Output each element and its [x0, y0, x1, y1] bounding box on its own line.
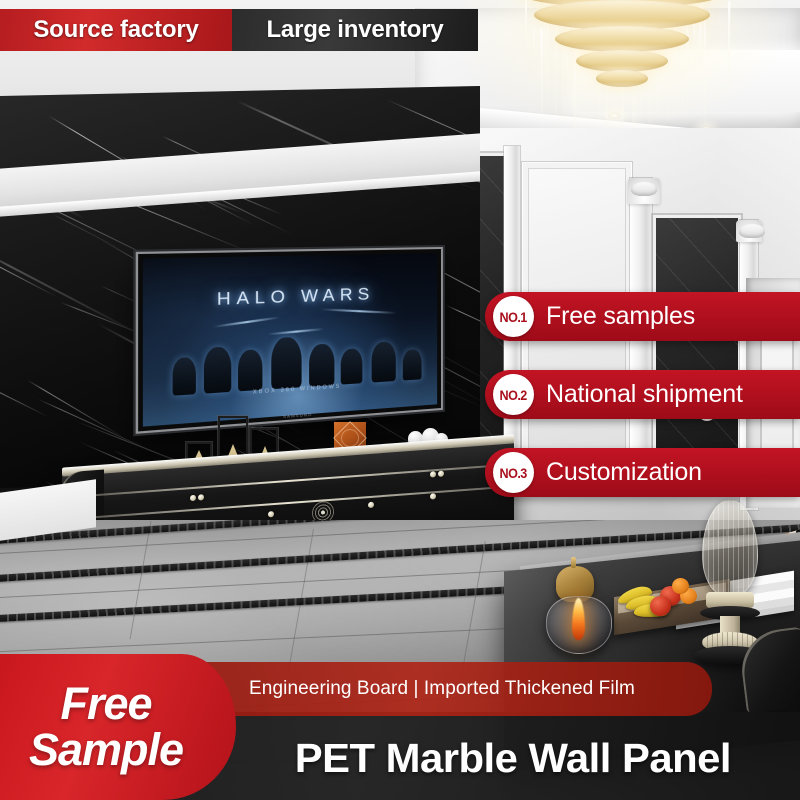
selling-point-3-label: Customization: [546, 458, 702, 487]
apple: [650, 596, 671, 616]
game-character: [341, 348, 363, 384]
header-ribbon-group: Source factory Large inventory: [0, 9, 478, 51]
product-marketing-image: HALO WARS XBOX 360 WINDOWS SAMSUNG: [0, 0, 800, 800]
drawer-knob: [198, 494, 204, 500]
game-character: [402, 349, 421, 380]
game-character: [310, 344, 335, 387]
selling-point-3: NO.3 Customization: [485, 448, 800, 497]
number-badge-icon: NO.3: [493, 452, 534, 493]
orange-fruit: [672, 578, 689, 594]
product-title-band: PET Marble Wall Panel: [225, 722, 800, 794]
pilaster-capital: [628, 178, 660, 204]
free-sample-line-2: Sample: [29, 727, 183, 773]
crystal-chandelier: [487, 0, 757, 130]
marble-vein: [53, 214, 122, 250]
chandelier-tier: [596, 70, 648, 87]
product-subtitle-band: Engineering Board | Imported Thickened F…: [172, 662, 712, 716]
marble-vein: [0, 249, 148, 340]
game-character: [271, 337, 301, 390]
wall-mounted-tv: HALO WARS XBOX 360 WINDOWS SAMSUNG: [138, 249, 441, 431]
header-badge-source-factory: Source factory: [0, 9, 232, 51]
chandelier-tier: [576, 50, 668, 72]
chandelier-tier: [555, 26, 689, 52]
game-character: [204, 347, 231, 394]
lamp-glass-shade: [702, 500, 758, 596]
crystal-strand: [704, 16, 706, 128]
header-badge-large-inventory-label: Large inventory: [266, 16, 443, 44]
marble-vein: [27, 379, 125, 438]
drawer-knob: [438, 471, 444, 477]
selling-point-1: NO.1 Free samples: [485, 292, 800, 341]
free-sample-tag: Free Sample: [0, 654, 236, 800]
selling-point-3-number: NO.3: [500, 465, 527, 481]
selling-points-list: NO.1 Free samples NO.2 National shipment…: [485, 292, 800, 497]
game-character: [372, 342, 396, 383]
number-badge-icon: NO.2: [493, 374, 534, 415]
selling-point-1-label: Free samples: [546, 302, 695, 331]
selling-point-2-number: NO.2: [500, 387, 527, 403]
crystal-strand: [728, 1, 730, 95]
marble-vein: [446, 304, 480, 338]
drawer-knob: [268, 511, 274, 517]
crystal-strand: [541, 29, 543, 138]
product-title: PET Marble Wall Panel: [294, 735, 730, 782]
drawer-knob: [430, 493, 436, 499]
free-sample-line-1: Free: [60, 681, 151, 727]
crystal-strand: [533, 29, 535, 69]
glass-table-lamp: [690, 500, 768, 658]
drawer-knob: [430, 471, 436, 477]
header-badge-source-factory-label: Source factory: [33, 16, 198, 44]
number-badge-icon: NO.1: [493, 296, 534, 337]
selling-point-2-label: National shipment: [546, 380, 743, 409]
pilaster-capital: [736, 220, 762, 242]
product-subtitle: Engineering Board | Imported Thickened F…: [249, 678, 635, 700]
game-character: [238, 350, 262, 392]
crystal-strand: [525, 0, 527, 58]
crystal-strand: [693, 21, 695, 53]
bottom-banner: Engineering Board | Imported Thickened F…: [0, 652, 800, 800]
selling-point-2: NO.2 National shipment: [485, 370, 800, 419]
drawer-knob: [190, 495, 196, 501]
drawer-knob: [368, 502, 374, 508]
game-character: [172, 357, 195, 396]
tv-screen: HALO WARS XBOX 360 WINDOWS: [143, 253, 437, 427]
header-badge-large-inventory: Large inventory: [232, 9, 478, 51]
selling-point-1-number: NO.1: [500, 309, 527, 325]
